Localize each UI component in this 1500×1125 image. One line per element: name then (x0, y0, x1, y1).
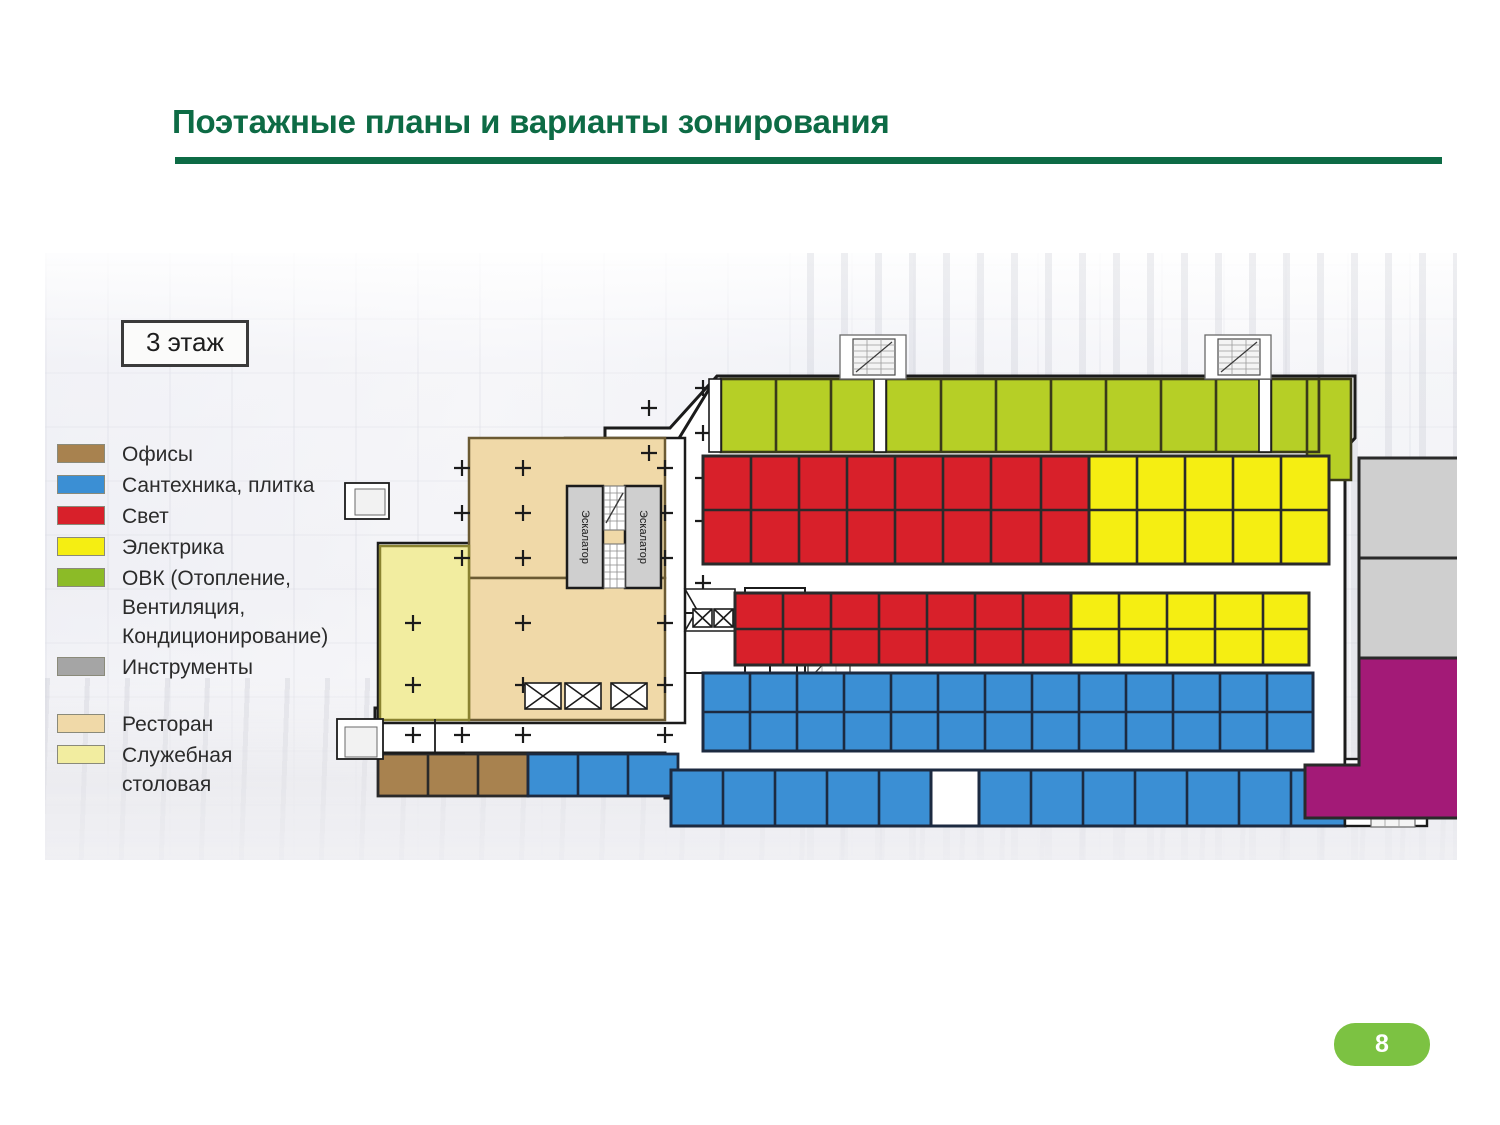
escalator-right-label: Эскалатор (637, 510, 649, 564)
legend-swatch-plumbing-tile (57, 475, 105, 494)
legend-label-tools: Инструменты (122, 653, 253, 682)
legend-swatch-electrics (57, 537, 105, 556)
zone-upper-band (703, 456, 1329, 564)
floor-plan-panel: Эскалатор Эскалатор (45, 253, 1457, 860)
legend-item-tools[interactable]: Инструменты (57, 653, 357, 682)
zone-tools-1 (1359, 458, 1457, 558)
legend-label-restaurant: Ресторан (122, 710, 213, 739)
legend-item-restaurant[interactable]: Ресторан (57, 710, 357, 739)
escalator-left-label: Эскалатор (579, 510, 591, 564)
lift-shafts-middle-band (685, 589, 735, 631)
legend-swatch-hvac (57, 568, 105, 587)
zone-service-canteen (380, 546, 469, 720)
legend-label-light: Свет (122, 502, 169, 531)
legend-label-electrics: Электрика (122, 533, 224, 562)
zone-blue-band (703, 673, 1313, 751)
legend-item-electrics[interactable]: Электрика (57, 533, 357, 562)
stair-core-north-1 (840, 335, 906, 379)
legend-item-light[interactable]: Свет (57, 502, 357, 531)
zone-tools-2 (1359, 558, 1457, 658)
zone-bottom-right-strip (671, 770, 1345, 826)
legend: Офисы Сантехника, плитка Свет Электрика … (57, 440, 357, 801)
zone-bottom-left-strip (378, 754, 678, 796)
page-number-badge: 8 (1334, 1023, 1430, 1066)
floor-badge: 3 этаж (121, 320, 249, 367)
legend-swatch-light (57, 506, 105, 525)
legend-item-service-canteen[interactable]: Служебная столовая (57, 741, 357, 799)
stair-core-north-2 (1205, 335, 1271, 379)
title-underline-rule (175, 157, 1442, 164)
legend-divider-gap (57, 684, 357, 710)
legend-swatch-service-canteen (57, 745, 105, 764)
legend-swatch-tools (57, 657, 105, 676)
legend-swatch-offices (57, 444, 105, 463)
escalator-left: Эскалатор (567, 486, 603, 588)
legend-item-offices[interactable]: Офисы (57, 440, 357, 469)
zone-middle-band (735, 593, 1309, 665)
escalator-right: Эскалатор (625, 486, 661, 588)
legend-label-service-canteen: Служебная столовая (122, 741, 232, 799)
legend-item-hvac[interactable]: ОВК (Отопление, Вентиляция, Кондициониро… (57, 564, 357, 651)
legend-label-offices: Офисы (122, 440, 193, 469)
lift-shafts (525, 683, 647, 709)
legend-swatch-restaurant (57, 714, 105, 733)
legend-label-hvac: ОВК (Отопление, Вентиляция, Кондициониро… (122, 564, 328, 651)
legend-item-plumbing-tile[interactable]: Сантехника, плитка (57, 471, 357, 500)
legend-label-plumbing-tile: Сантехника, плитка (122, 471, 314, 500)
page-title: Поэтажные планы и варианты зонирования (172, 103, 890, 141)
